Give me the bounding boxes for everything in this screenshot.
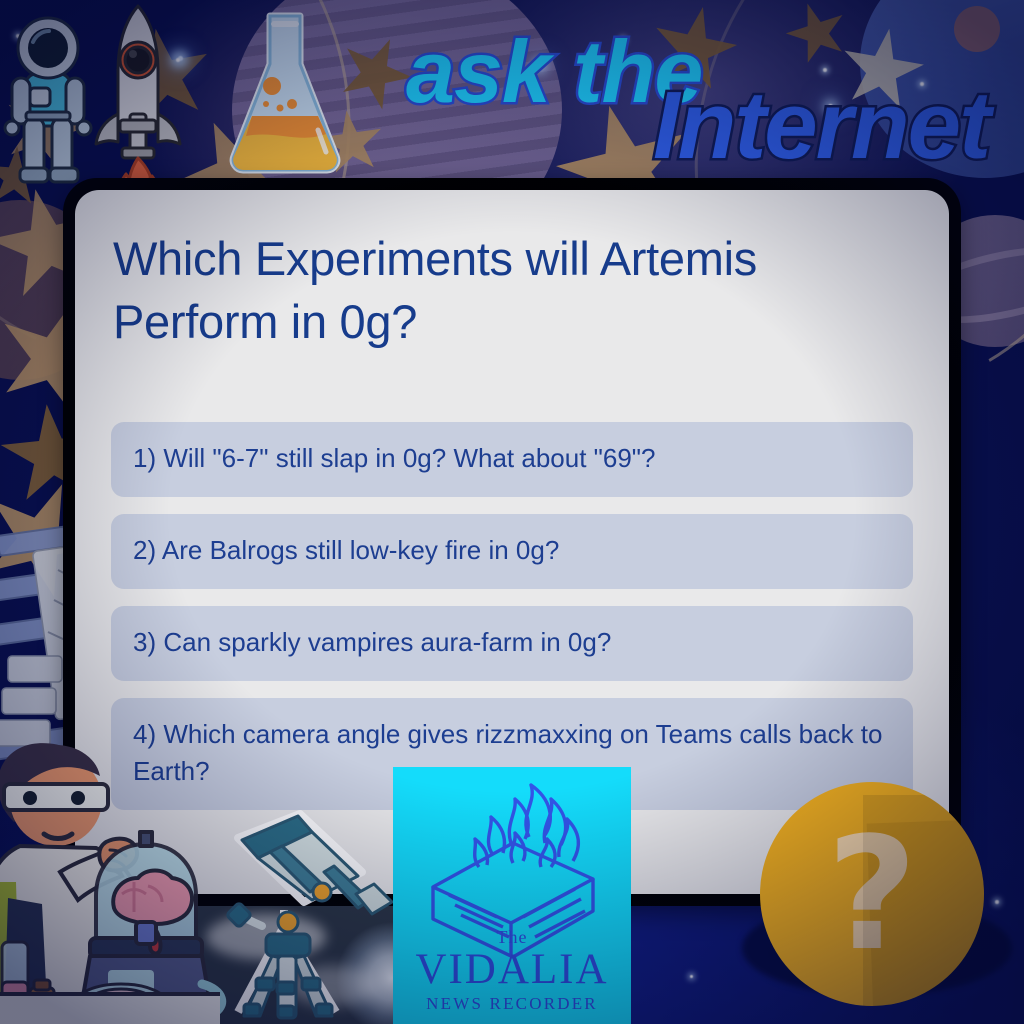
- vignette-overlay: [0, 0, 1024, 1024]
- poster-canvas: ask the Internet Which Experiments will …: [0, 0, 1024, 1024]
